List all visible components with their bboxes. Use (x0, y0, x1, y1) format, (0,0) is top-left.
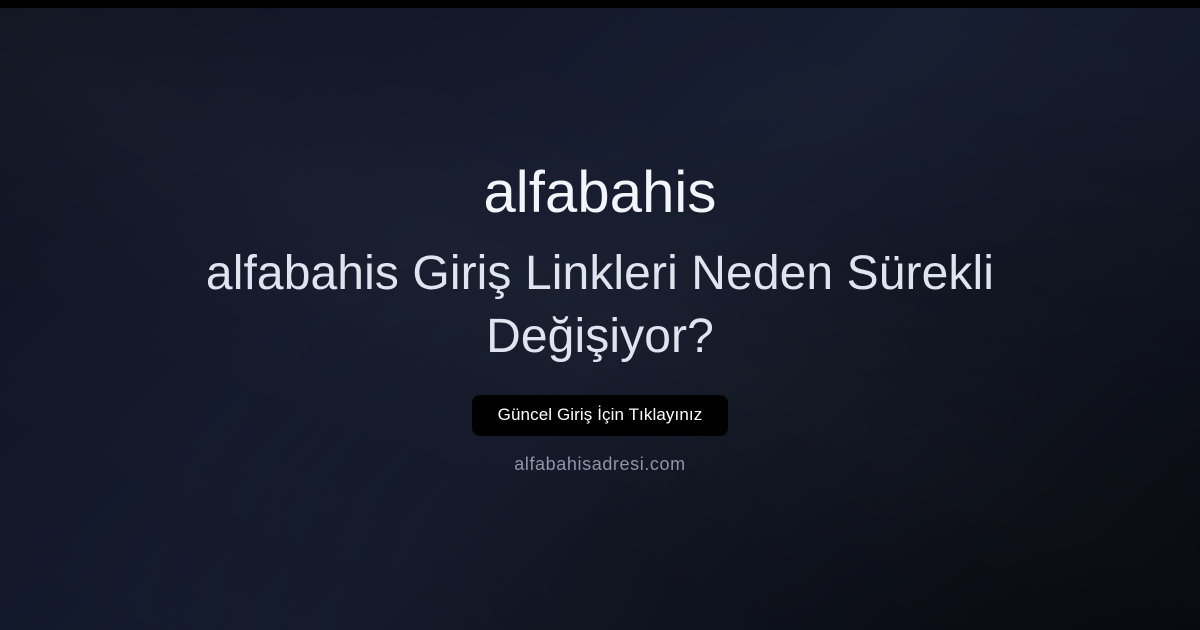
og-banner-card: alfabahis alfabahis Giriş Linkleri Neden… (0, 0, 1200, 630)
top-letterbox-bar (0, 0, 1200, 8)
brand-title: alfabahis (483, 163, 716, 224)
headline-text: alfabahis Giriş Linkleri Neden Sürekli D… (150, 242, 1050, 369)
site-domain-label: alfabahisadresi.com (514, 454, 685, 475)
cta-login-button[interactable]: Güncel Giriş İçin Tıklayınız (472, 395, 729, 436)
banner-content: alfabahis alfabahis Giriş Linkleri Neden… (0, 8, 1200, 630)
